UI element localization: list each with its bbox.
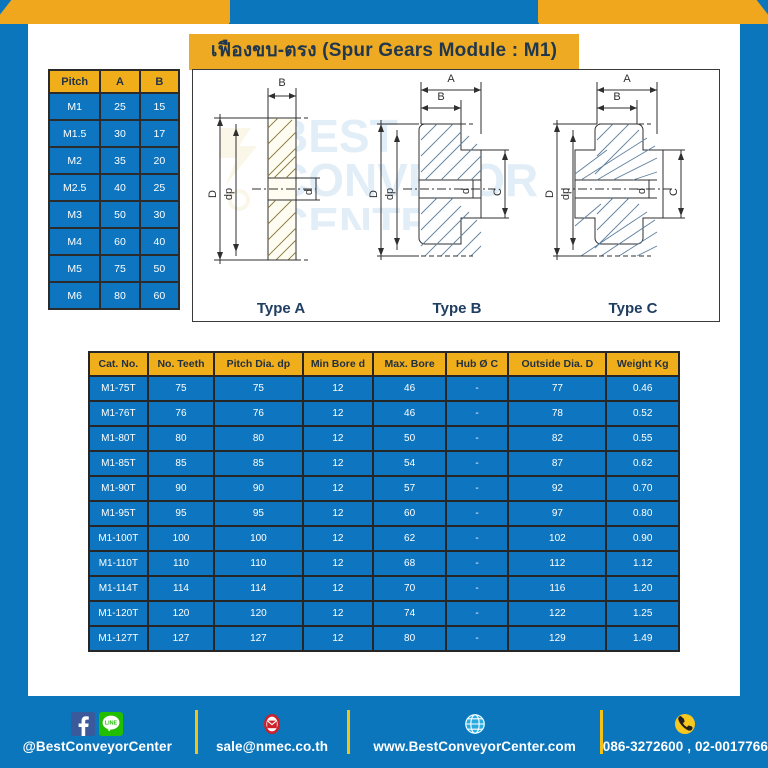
spec-cell: 127	[149, 627, 214, 650]
svg-text:C: C	[492, 188, 504, 196]
spec-cell: 0.52	[607, 402, 678, 425]
spec-cell: 78	[509, 402, 605, 425]
spec-cell: 12	[304, 377, 373, 400]
spec-cell: 102	[509, 527, 605, 550]
spec-cell: -	[447, 552, 508, 575]
spec-cell: 114	[215, 577, 301, 600]
svg-text:A: A	[447, 74, 455, 85]
pitch-cell: M6	[50, 283, 99, 308]
spec-cell: 92	[509, 477, 605, 500]
stripe	[538, 0, 663, 24]
table-row: M1-127T1271271280-1291.49	[90, 627, 678, 650]
spec-cell: M1-127T	[90, 627, 147, 650]
table-row: M1-120T1201201274-1221.25	[90, 602, 678, 625]
spec-header-pitch-dia: Pitch Dia. dp	[215, 353, 301, 375]
table-row: M1-90T90901257-920.70	[90, 477, 678, 500]
spec-cell: 50	[374, 427, 444, 450]
pitch-cell: M3	[50, 202, 99, 227]
corner-stripes-right	[538, 0, 768, 24]
spec-header-min-bore: Min Bore d	[304, 353, 373, 375]
pitch-cell: 15	[141, 94, 178, 119]
pitch-cell: 30	[101, 121, 138, 146]
spec-cell: 46	[374, 402, 444, 425]
spec-cell: 12	[304, 627, 373, 650]
table-row: M1-85T85851254-870.62	[90, 452, 678, 475]
page-sheet: เฟืองขบ-ตรง (Spur Gears Module : M1) Pit…	[28, 24, 740, 696]
pitch-cell: 20	[141, 148, 178, 173]
spec-cell: 77	[509, 377, 605, 400]
page-title: เฟืองขบ-ตรง (Spur Gears Module : M1)	[28, 34, 740, 70]
spec-cell: 12	[304, 402, 373, 425]
svg-text:B: B	[613, 91, 620, 103]
spec-cell: 12	[304, 527, 373, 550]
pitch-cell: M4	[50, 229, 99, 254]
spec-cell: 87	[509, 452, 605, 475]
spec-table-wrapper: Cat. No. No. Teeth Pitch Dia. dp Min Bor…	[88, 351, 680, 652]
footer-phone[interactable]: 086-3272600 , 02-0017766	[603, 696, 768, 768]
spec-cell: M1-85T	[90, 452, 147, 475]
pitch-cell: M5	[50, 256, 99, 281]
pitch-cell: 30	[141, 202, 178, 227]
pitch-cell: 25	[101, 94, 138, 119]
spec-cell: 76	[215, 402, 301, 425]
spec-cell: 82	[509, 427, 605, 450]
pitch-cell: 40	[141, 229, 178, 254]
svg-text:C: C	[668, 188, 680, 196]
line-icon[interactable]: LINE	[99, 712, 123, 736]
spec-cell: 100	[149, 527, 214, 550]
corner-stripes-left	[0, 0, 230, 24]
footer-social-text: @BestConveyorCenter	[23, 739, 172, 754]
spec-cell: M1-75T	[90, 377, 147, 400]
spec-cell: 127	[215, 627, 301, 650]
pitch-table-row: M57550	[50, 256, 178, 281]
table-row: M1-76T76761246-780.52	[90, 402, 678, 425]
pitch-table-row: M23520	[50, 148, 178, 173]
table-row: M1-80T80801250-820.55	[90, 427, 678, 450]
pitch-header-a: A	[101, 71, 138, 92]
svg-text:d: d	[303, 189, 315, 195]
spec-cell: -	[447, 627, 508, 650]
footer-social[interactable]: LINE @BestConveyorCenter	[0, 696, 195, 768]
spec-cell: 97	[509, 502, 605, 525]
spec-header-max-bore: Max. Bore	[374, 353, 444, 375]
spec-cell: -	[447, 602, 508, 625]
spec-cell: -	[447, 427, 508, 450]
spec-cell: 95	[149, 502, 214, 525]
svg-text:B: B	[437, 91, 444, 103]
spec-cell: 68	[374, 552, 444, 575]
footer-website-text: www.BestConveyorCenter.com	[373, 739, 575, 754]
pitch-cell: M2	[50, 148, 99, 173]
pitch-cell: 40	[101, 175, 138, 200]
pitch-cell: M1	[50, 94, 99, 119]
pitch-cell: 75	[101, 256, 138, 281]
table-row: M1-114T1141141270-1161.20	[90, 577, 678, 600]
pitch-table: Pitch A B M12515M1.53017M23520M2.54025M3…	[48, 69, 180, 310]
svg-text:dp: dp	[560, 188, 572, 200]
footer-email[interactable]: sale@nmec.co.th	[198, 696, 347, 768]
spec-cell: M1-120T	[90, 602, 147, 625]
footer-phone-text: 086-3272600 , 02-0017766	[603, 739, 768, 754]
spec-cell: 122	[509, 602, 605, 625]
upper-section: Pitch A B M12515M1.53017M23520M2.54025M3…	[48, 69, 720, 322]
table-row: M1-100T1001001262-1020.90	[90, 527, 678, 550]
pitch-table-row: M35030	[50, 202, 178, 227]
pitch-table-header-row: Pitch A B	[50, 71, 178, 92]
pitch-header-b: B	[141, 71, 178, 92]
spec-cell: 12	[304, 502, 373, 525]
page-title-text: เฟืองขบ-ตรง (Spur Gears Module : M1)	[189, 34, 579, 70]
pitch-table-row: M46040	[50, 229, 178, 254]
svg-text:D: D	[369, 190, 380, 198]
pitch-cell: M1.5	[50, 121, 99, 146]
spec-cell: 0.55	[607, 427, 678, 450]
pitch-cell: 50	[141, 256, 178, 281]
spec-cell: 70	[374, 577, 444, 600]
spec-cell: 120	[149, 602, 214, 625]
diagram-type-c: D dp d C A B Type C	[545, 70, 720, 322]
spec-cell: 112	[509, 552, 605, 575]
spec-cell: M1-114T	[90, 577, 147, 600]
spec-cell: -	[447, 502, 508, 525]
svg-text:d: d	[636, 188, 648, 194]
spec-cell: -	[447, 452, 508, 475]
spec-cell: 62	[374, 527, 444, 550]
spec-cell: 80	[149, 427, 214, 450]
spec-header-weight: Weight Kg	[607, 353, 678, 375]
pitch-cell: 50	[101, 202, 138, 227]
spec-cell: 46	[374, 377, 444, 400]
spec-cell: 12	[304, 452, 373, 475]
svg-text:dp: dp	[384, 188, 396, 200]
spec-cell: M1-90T	[90, 477, 147, 500]
spec-cell: 75	[215, 377, 301, 400]
table-row: M1-75T75751246-770.46	[90, 377, 678, 400]
spec-cell: 1.49	[607, 627, 678, 650]
pitch-cell: M2.5	[50, 175, 99, 200]
spec-cell: 12	[304, 427, 373, 450]
spec-cell: 116	[509, 577, 605, 600]
spec-header-outside-dia: Outside Dia. D	[509, 353, 605, 375]
spec-cell: M1-95T	[90, 502, 147, 525]
diagram-type-b: D dp d C A B Type B	[369, 70, 545, 322]
spec-cell: 110	[149, 552, 214, 575]
pitch-cell: 35	[101, 148, 138, 173]
spec-cell: -	[447, 477, 508, 500]
spec-header-hub-c: Hub Ø C	[447, 353, 508, 375]
svg-text:d: d	[460, 188, 472, 194]
spec-cell: 1.25	[607, 602, 678, 625]
spec-cell: 57	[374, 477, 444, 500]
spec-cell: 1.20	[607, 577, 678, 600]
diagram-label-type-a: Type A	[193, 300, 369, 317]
pitch-cell: 60	[141, 283, 178, 308]
svg-text:dp: dp	[223, 188, 235, 200]
spec-cell: 90	[149, 477, 214, 500]
pitch-table-row: M2.54025	[50, 175, 178, 200]
facebook-icon[interactable]	[71, 712, 95, 736]
gear-type-diagrams: BEST CONVEYOR CENTER	[192, 69, 720, 322]
pitch-cell: 25	[141, 175, 178, 200]
footer-contact-bar: LINE @BestConveyorCenter sale@nmec.co.th	[0, 696, 768, 768]
table-row: M1-110T1101101268-1121.12	[90, 552, 678, 575]
footer-email-text: sale@nmec.co.th	[216, 739, 328, 754]
spec-cell: 12	[304, 602, 373, 625]
spec-cell: 75	[149, 377, 214, 400]
spec-cell: 129	[509, 627, 605, 650]
svg-text:D: D	[207, 190, 219, 198]
pitch-table-row: M1.53017	[50, 121, 178, 146]
spec-cell: 110	[215, 552, 301, 575]
phone-icon[interactable]	[673, 712, 697, 736]
spec-cell: 0.62	[607, 452, 678, 475]
spec-cell: 1.12	[607, 552, 678, 575]
svg-text:A: A	[623, 74, 631, 85]
spec-cell: 100	[215, 527, 301, 550]
spec-cell: M1-110T	[90, 552, 147, 575]
spec-cell: 95	[215, 502, 301, 525]
diagram-type-a: D dp d B Type A	[193, 70, 369, 322]
spec-cell: 12	[304, 577, 373, 600]
spec-header-no-teeth: No. Teeth	[149, 353, 214, 375]
spec-cell: 120	[215, 602, 301, 625]
globe-icon[interactable]	[463, 712, 487, 736]
spec-cell: M1-80T	[90, 427, 147, 450]
spec-cell: -	[447, 527, 508, 550]
pitch-cell: 80	[101, 283, 138, 308]
diagram-label-type-b: Type B	[369, 300, 545, 317]
footer-website[interactable]: www.BestConveyorCenter.com	[350, 696, 600, 768]
pitch-cell: 60	[101, 229, 138, 254]
spec-cell: 90	[215, 477, 301, 500]
svg-text:D: D	[545, 190, 556, 198]
spec-cell: 54	[374, 452, 444, 475]
spec-cell: 85	[149, 452, 214, 475]
stripe	[105, 0, 230, 24]
spec-cell: 60	[374, 502, 444, 525]
diagram-label-type-c: Type C	[545, 300, 720, 317]
spec-cell: 76	[149, 402, 214, 425]
spec-table: Cat. No. No. Teeth Pitch Dia. dp Min Bor…	[88, 351, 680, 652]
spec-cell: 0.46	[607, 377, 678, 400]
spec-header-cat-no: Cat. No.	[90, 353, 147, 375]
spec-cell: 12	[304, 552, 373, 575]
spec-cell: 12	[304, 477, 373, 500]
svg-text:B: B	[278, 77, 285, 89]
spec-cell: 80	[374, 627, 444, 650]
pitch-cell: 17	[141, 121, 178, 146]
pitch-table-row: M12515	[50, 94, 178, 119]
table-row: M1-95T95951260-970.80	[90, 502, 678, 525]
spec-table-header-row: Cat. No. No. Teeth Pitch Dia. dp Min Bor…	[90, 353, 678, 375]
spec-cell: 80	[215, 427, 301, 450]
spec-cell: 85	[215, 452, 301, 475]
spec-cell: M1-100T	[90, 527, 147, 550]
spec-cell: 74	[374, 602, 444, 625]
spec-cell: -	[447, 377, 508, 400]
pitch-table-row: M68060	[50, 283, 178, 308]
pitch-header-pitch: Pitch	[50, 71, 99, 92]
svg-text:LINE: LINE	[105, 720, 118, 726]
spec-cell: M1-76T	[90, 402, 147, 425]
spec-cell: 0.80	[607, 502, 678, 525]
spec-cell: -	[447, 402, 508, 425]
email-icon[interactable]	[260, 712, 284, 736]
spec-cell: 0.90	[607, 527, 678, 550]
spec-cell: 0.70	[607, 477, 678, 500]
spec-cell: -	[447, 577, 508, 600]
spec-cell: 114	[149, 577, 214, 600]
